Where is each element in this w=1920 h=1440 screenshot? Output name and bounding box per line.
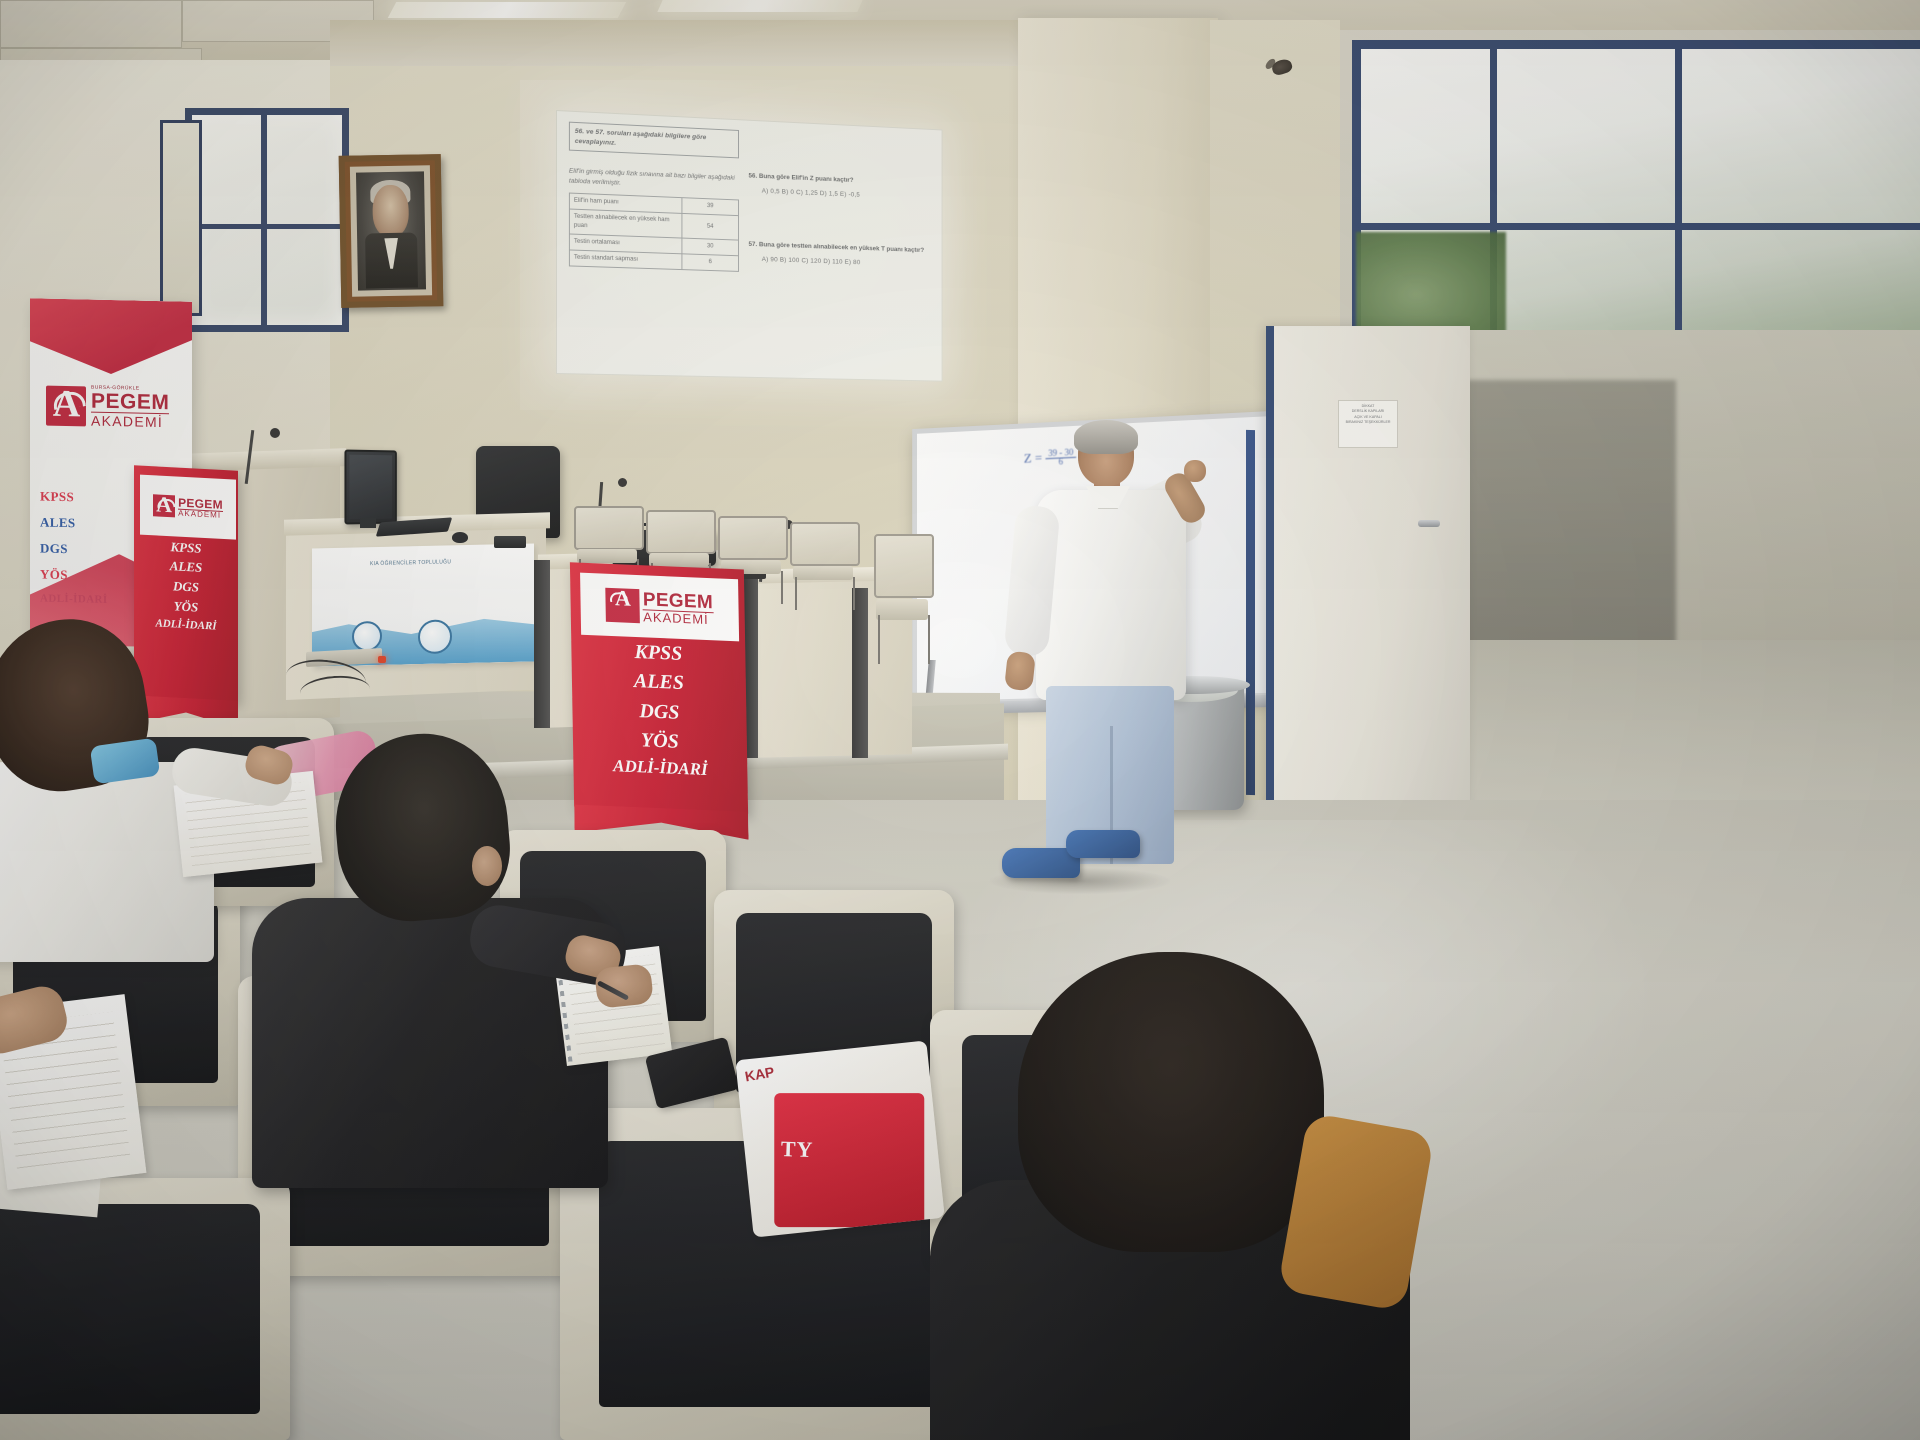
pegem-pennant-center: PEGEM AKADEMİ KPSS ALES DGS YÖS ADLİ-İDA… [570,562,748,814]
cloth-caption: KIA ÖĞRENCİLER TOPLULUĞU [370,559,451,567]
monitor-stand [360,518,376,528]
student-2-ear [472,846,502,886]
slide-lead-in: Elif'in girmiş olduğu fizik sınavına ait… [569,167,739,193]
banner-brand-lockup: BURSA-GÖRÜKLE PEGEM AKADEMİ [46,385,169,430]
table-cell-label: Testin standart sapması [569,250,681,270]
pegem-logo-icon [153,494,175,517]
question-number: 57. [748,241,757,248]
pegem-logo-icon [606,588,641,623]
desk-leg [534,560,550,728]
microphone-head [618,478,627,487]
pennant-brand: PEGEM [643,590,713,612]
pennant-items: KPSS ALES DGS YÖS ADLİ-İDARİ [134,535,238,636]
teacher-hair [1074,420,1138,454]
window-left-return [160,120,202,316]
teacher-at-whiteboard [1000,424,1215,894]
pennant-subbrand: AKADEMİ [178,508,223,519]
teacher-hand-left [1004,651,1036,692]
question-text: Buna göre Elif'in Z puanı kaçtır? [759,173,854,184]
question-options: A) 90 B) 100 C) 120 D) 110 E) 80 [748,254,925,269]
door-handle[interactable] [1418,520,1440,527]
foliage-outside [1356,232,1506,336]
notice-line-4: BIRAKINIZ TEŞEKKÜRLER [1342,420,1394,425]
snack-bag-brand: TY [780,1136,813,1163]
table-cell-value: 6 [682,254,739,272]
table-cell-value: 30 [682,238,739,256]
pennant-header: PEGEM AKADEMİ [580,572,738,641]
teacher-hand-right-holding-marker [1184,460,1206,482]
slide-instruction-box: 56. ve 57. soruları aşağıdaki bilgilere … [569,122,739,159]
auditorium-seat [0,1178,290,1440]
table-cell-value: 54 [682,214,739,241]
ataturk-portrait [339,154,444,308]
microphone-head [270,428,280,438]
pegem-logo-icon [46,386,86,427]
snack-bag: KAP TY [735,1040,945,1237]
monitor-screen [349,455,392,520]
pennant-header: PEGEM AKADEMİ [140,475,236,540]
projection-screen: 56. ve 57. soruları aşağıdaki bilgilere … [556,110,943,382]
desk-leg [852,588,868,758]
stacking-chair [874,534,930,664]
student-3-hair [1018,952,1324,1252]
question-number: 56. [748,173,757,180]
wall-edge-blue [1246,430,1255,795]
teacher-shoe-right [1066,830,1140,858]
door-notice-sign: DİKKAT DERSLİK KAPILARI AÇIK VE KAPALI B… [1338,400,1398,448]
stacking-chair [790,522,856,610]
window-left [185,108,349,332]
banner-top-band [30,298,192,375]
question-options: A) 0,5 B) 0 C) 1,25 D) 1,5 E) -0,5 [748,186,925,203]
slide-question-57: 57. Buna göre testten alınabilecek en yü… [748,240,925,269]
classroom-scene: 56. ve 57. soruları aşağıdaki bilgilere … [0,0,1920,1440]
pennant-subbrand: AKADEMİ [643,609,713,626]
desk-device [494,536,526,548]
mouse[interactable] [452,532,468,543]
snack-corner-tag: KAP [744,1064,776,1085]
computer-monitor [344,450,396,525]
slide-content: 56. ve 57. soruları aşağıdaki bilgilere … [557,111,942,381]
question-text: Buna göre testten alınabilecek en yüksek… [759,241,924,254]
corridor-shadow [1436,380,1676,680]
banner-brand: PEGEM [91,391,169,414]
ceiling-light-strip [388,2,627,18]
wall-soffit [330,20,1030,66]
pegem-pennant-left: PEGEM AKADEMİ KPSS ALES DGS YÖS ADLİ-İDA… [134,465,238,702]
banner-subbrand: AKADEMİ [91,412,169,430]
desk-table-cloth: KIA ÖĞRENCİLER TOPLULUĞU [312,543,534,666]
pennant-items: KPSS ALES DGS YÖS ADLİ-İDARİ [571,635,747,784]
slide-question-56: 56. Buna göre Elif'in Z puanı kaçtır? A)… [748,172,925,203]
power-led-indicator [378,656,386,663]
ceiling-light-strip [657,0,862,12]
slide-data-table: Elif'in ham puanı 39 Testten alınabilece… [569,193,739,272]
